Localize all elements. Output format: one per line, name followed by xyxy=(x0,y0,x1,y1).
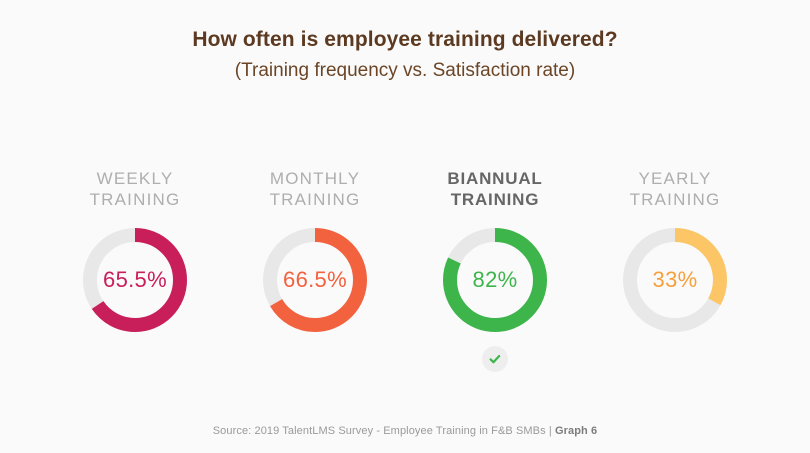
source-footer: Source: 2019 TalentLMS Survey - Employee… xyxy=(0,425,810,437)
donut-label: YEARLY TRAINING xyxy=(630,168,721,210)
page-title: How often is employee training delivered… xyxy=(0,26,810,54)
badge-spacer xyxy=(122,346,148,372)
donut-chart-3: BIANNUAL TRAINING82% xyxy=(415,168,575,372)
donut-label: WEEKLY TRAINING xyxy=(90,168,181,210)
donut-graphic: 33% xyxy=(623,228,727,332)
donut-graphic: 82% xyxy=(443,228,547,332)
donut-chart-1: WEEKLY TRAINING65.5% xyxy=(55,168,215,372)
donut-label: MONTHLY TRAINING xyxy=(270,168,361,210)
donut-graphic: 65.5% xyxy=(83,228,187,332)
badge-spacer xyxy=(662,346,688,372)
recommended-badge xyxy=(482,346,508,372)
donut-chart-4: YEARLY TRAINING33% xyxy=(595,168,755,372)
donut-graphic: 66.5% xyxy=(263,228,367,332)
graph-number: Graph 6 xyxy=(555,425,597,437)
donut-value-text: 65.5% xyxy=(83,228,187,332)
check-icon xyxy=(488,352,502,366)
donut-chart-row: WEEKLY TRAINING65.5%MONTHLY TRAINING66.5… xyxy=(0,168,810,372)
source-text: Source: 2019 TalentLMS Survey - Employee… xyxy=(213,425,555,437)
badge-spacer xyxy=(302,346,328,372)
donut-label: BIANNUAL TRAINING xyxy=(447,168,542,210)
donut-value-text: 33% xyxy=(623,228,727,332)
page-subtitle: (Training frequency vs. Satisfaction rat… xyxy=(0,57,810,85)
donut-value-text: 66.5% xyxy=(263,228,367,332)
donut-value-text: 82% xyxy=(443,228,547,332)
chart-header: How often is employee training delivered… xyxy=(0,26,810,85)
donut-chart-2: MONTHLY TRAINING66.5% xyxy=(235,168,395,372)
